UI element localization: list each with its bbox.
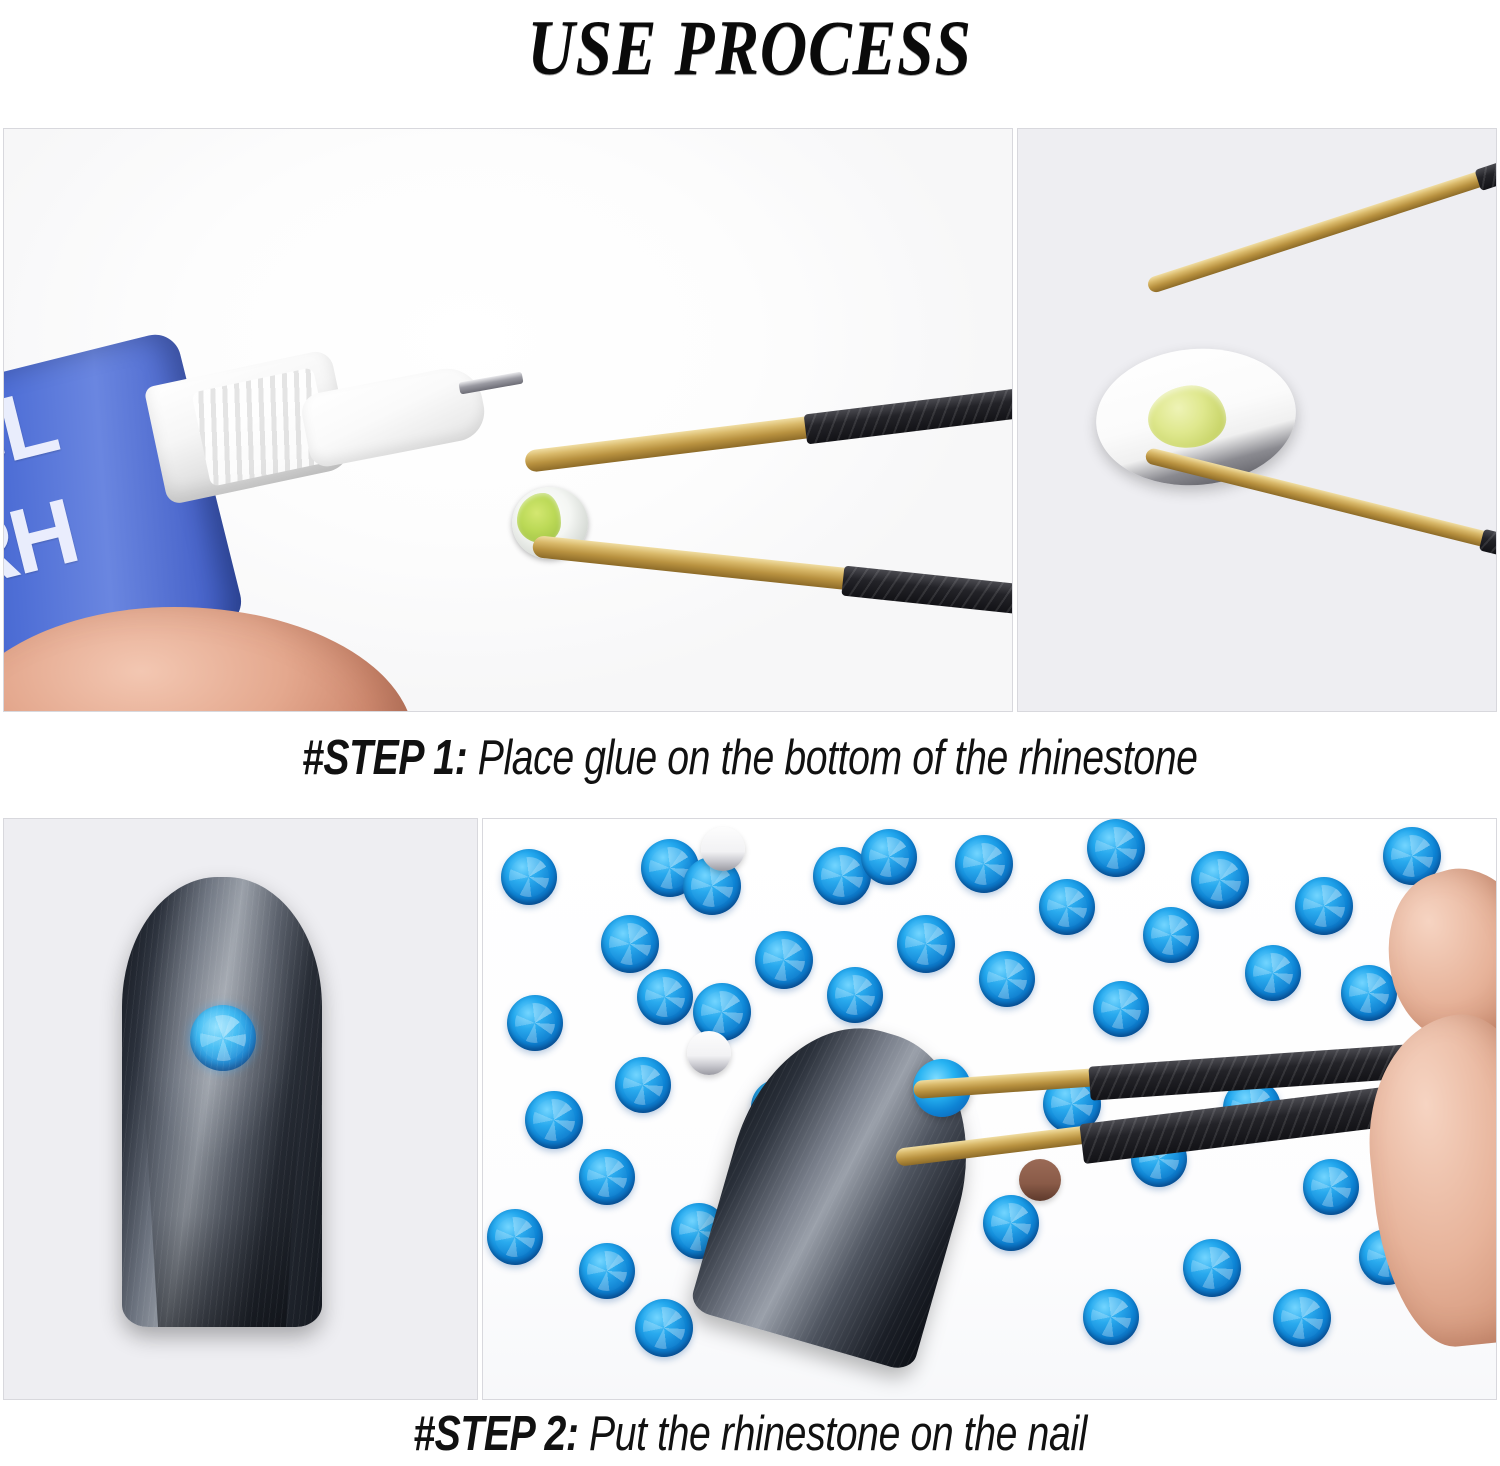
rhinestone-gem bbox=[1245, 945, 1301, 1001]
rhinestone-gem bbox=[579, 1243, 635, 1299]
rhinestone-gem bbox=[501, 849, 557, 905]
blue-rhinestone-on-nail bbox=[190, 1005, 256, 1071]
tweezer-gold-tip bbox=[1144, 447, 1497, 550]
rhinestone-gem bbox=[897, 915, 955, 973]
rhinestone-flat-back bbox=[687, 1031, 731, 1075]
rhinestone-gem bbox=[1191, 851, 1249, 909]
glue-label-text-bottom: RH bbox=[3, 479, 85, 611]
rhinestone-gem bbox=[979, 951, 1035, 1007]
rhinestone-gem bbox=[1273, 1289, 1331, 1347]
thumb bbox=[3, 607, 414, 712]
step1-photo-left: GL RH bbox=[3, 128, 1013, 712]
rhinestone-gem bbox=[827, 967, 883, 1023]
tweezer-arm-lower bbox=[534, 535, 1013, 589]
rhinestone-gem bbox=[579, 1149, 635, 1205]
tweezer-arm-upper bbox=[1146, 149, 1497, 279]
step1-photo-right bbox=[1017, 128, 1497, 712]
tweezer-gold-tip bbox=[524, 414, 824, 472]
tweezer-black-grip bbox=[1479, 529, 1497, 572]
rhinestone-gem bbox=[755, 931, 813, 989]
tweezer-gold-tip bbox=[532, 535, 862, 591]
tweezer-arm-lower bbox=[1148, 447, 1497, 549]
rhinestone-gem bbox=[507, 995, 563, 1051]
rhinestone-gem bbox=[525, 1091, 583, 1149]
rhinestone-gem bbox=[861, 829, 917, 885]
tweezer-arm-upper bbox=[524, 390, 1013, 451]
tweezer-black-grip bbox=[804, 387, 1013, 445]
rhinestone-gem bbox=[1083, 1289, 1139, 1345]
rhinestone-gem bbox=[637, 969, 693, 1025]
dark-glitter-nail-tip bbox=[122, 877, 322, 1327]
rhinestone-gem bbox=[1039, 879, 1095, 935]
step2-label: #STEP 2: bbox=[413, 1407, 578, 1461]
rhinestone-gem bbox=[983, 1195, 1039, 1251]
step2-photo-left bbox=[3, 818, 478, 1400]
rhinestone-gem bbox=[635, 1299, 693, 1357]
step2-photo-right bbox=[482, 818, 1497, 1400]
rhinestone-gem bbox=[1341, 965, 1397, 1021]
rhinestone-gem bbox=[615, 1057, 671, 1113]
rhinestone-gem bbox=[601, 915, 659, 973]
tweezer-gold-tip bbox=[1146, 168, 1493, 294]
nail-tip-taper bbox=[128, 1077, 316, 1327]
step1-caption: #STEP 1: Place glue on the bottom of the… bbox=[0, 722, 1500, 794]
rhinestone-gem bbox=[487, 1209, 543, 1265]
rhinestone-gem bbox=[1087, 819, 1145, 877]
rhinestone-gem bbox=[1143, 907, 1199, 963]
rhinestone-flat-back bbox=[701, 827, 745, 871]
rhinestone-gem bbox=[1303, 1159, 1359, 1215]
rhinestone-gem bbox=[1183, 1239, 1241, 1297]
green-glue-drop bbox=[517, 493, 561, 543]
step2-text: Put the rhinestone on the nail bbox=[578, 1407, 1086, 1461]
step2-caption: #STEP 2: Put the rhinestone on the nail bbox=[0, 1402, 1500, 1466]
step1-label: #STEP 1: bbox=[302, 731, 467, 785]
tweezer-black-grip bbox=[841, 566, 1013, 619]
rhinestone-gem bbox=[955, 835, 1013, 893]
step1-text: Place glue on the bottom of the rhinesto… bbox=[468, 731, 1198, 785]
rhinestone-flat-back bbox=[1019, 1159, 1061, 1201]
green-glue-blob bbox=[1145, 383, 1228, 452]
page-title-text: USE PROCESS bbox=[528, 3, 972, 93]
dark-nail-tip bbox=[688, 1001, 999, 1373]
page-title: USE PROCESS bbox=[0, 0, 1500, 96]
rhinestone-gem bbox=[1295, 877, 1353, 935]
rhinestone-gem bbox=[1093, 981, 1149, 1037]
